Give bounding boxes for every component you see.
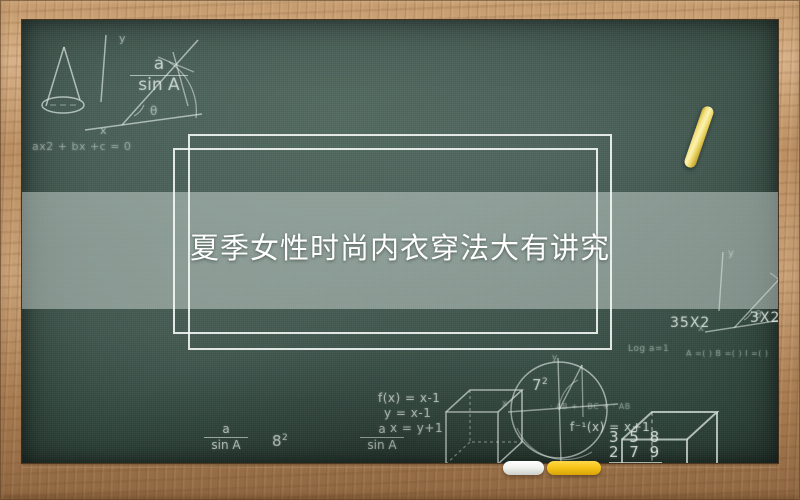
screenshot-root: a sin A y x θ ax2 + bx +c = 0 y x θ f(x)… (0, 0, 800, 500)
multiplication-3x2: 3X2 (750, 310, 778, 326)
fraction-a-over-sinA-topleft: a sin A (130, 56, 188, 95)
multiplication-35x2: 35X2 (670, 315, 710, 331)
page-title: 夏季女性时尚内衣穿法大有讲究 (22, 225, 778, 267)
matrix-expression: A =( ) B =( ) I =( ) (686, 349, 769, 358)
circle-axis-label-y: y (552, 353, 558, 363)
chalk-tray-lip (22, 463, 778, 468)
cone-diagram (42, 47, 84, 113)
function-line-2: y = x-1 (384, 406, 431, 420)
cube-wireframe-left (446, 390, 522, 463)
exponent-seven: 72 (532, 376, 548, 394)
white-chalk-icon (503, 461, 544, 475)
exponent-eight: 82 (272, 432, 288, 450)
yellow-chalk-tray-icon (547, 461, 601, 475)
circle-axis-label-x: x (502, 399, 508, 409)
function-line-1: f(x) = x-1 (378, 391, 440, 405)
chalkboard-surface: a sin A y x θ ax2 + bx +c = 0 y x θ f(x)… (22, 20, 778, 463)
log-a-equals-one: Log a=1 (628, 344, 669, 354)
quadratic-equation: ax2 + bx +c = 0 (32, 140, 131, 153)
fraction-a-over-sinA-bottomleft: a sin A (204, 423, 248, 451)
subtraction-calculation: 3 5 8 2 7 9 6 3 7 (609, 430, 662, 463)
angle-label-theta-topleft: θ (150, 104, 158, 118)
axis-label-y-topleft: y (119, 32, 126, 45)
calc-row-subtrahend: 2 7 9 (609, 445, 662, 460)
fraction-a-over-sinA-bottomcenter: a sin A (360, 423, 404, 451)
vector-expression: · AB + · BC + · AB (550, 402, 631, 411)
axis-label-x-topleft: x (100, 124, 107, 137)
